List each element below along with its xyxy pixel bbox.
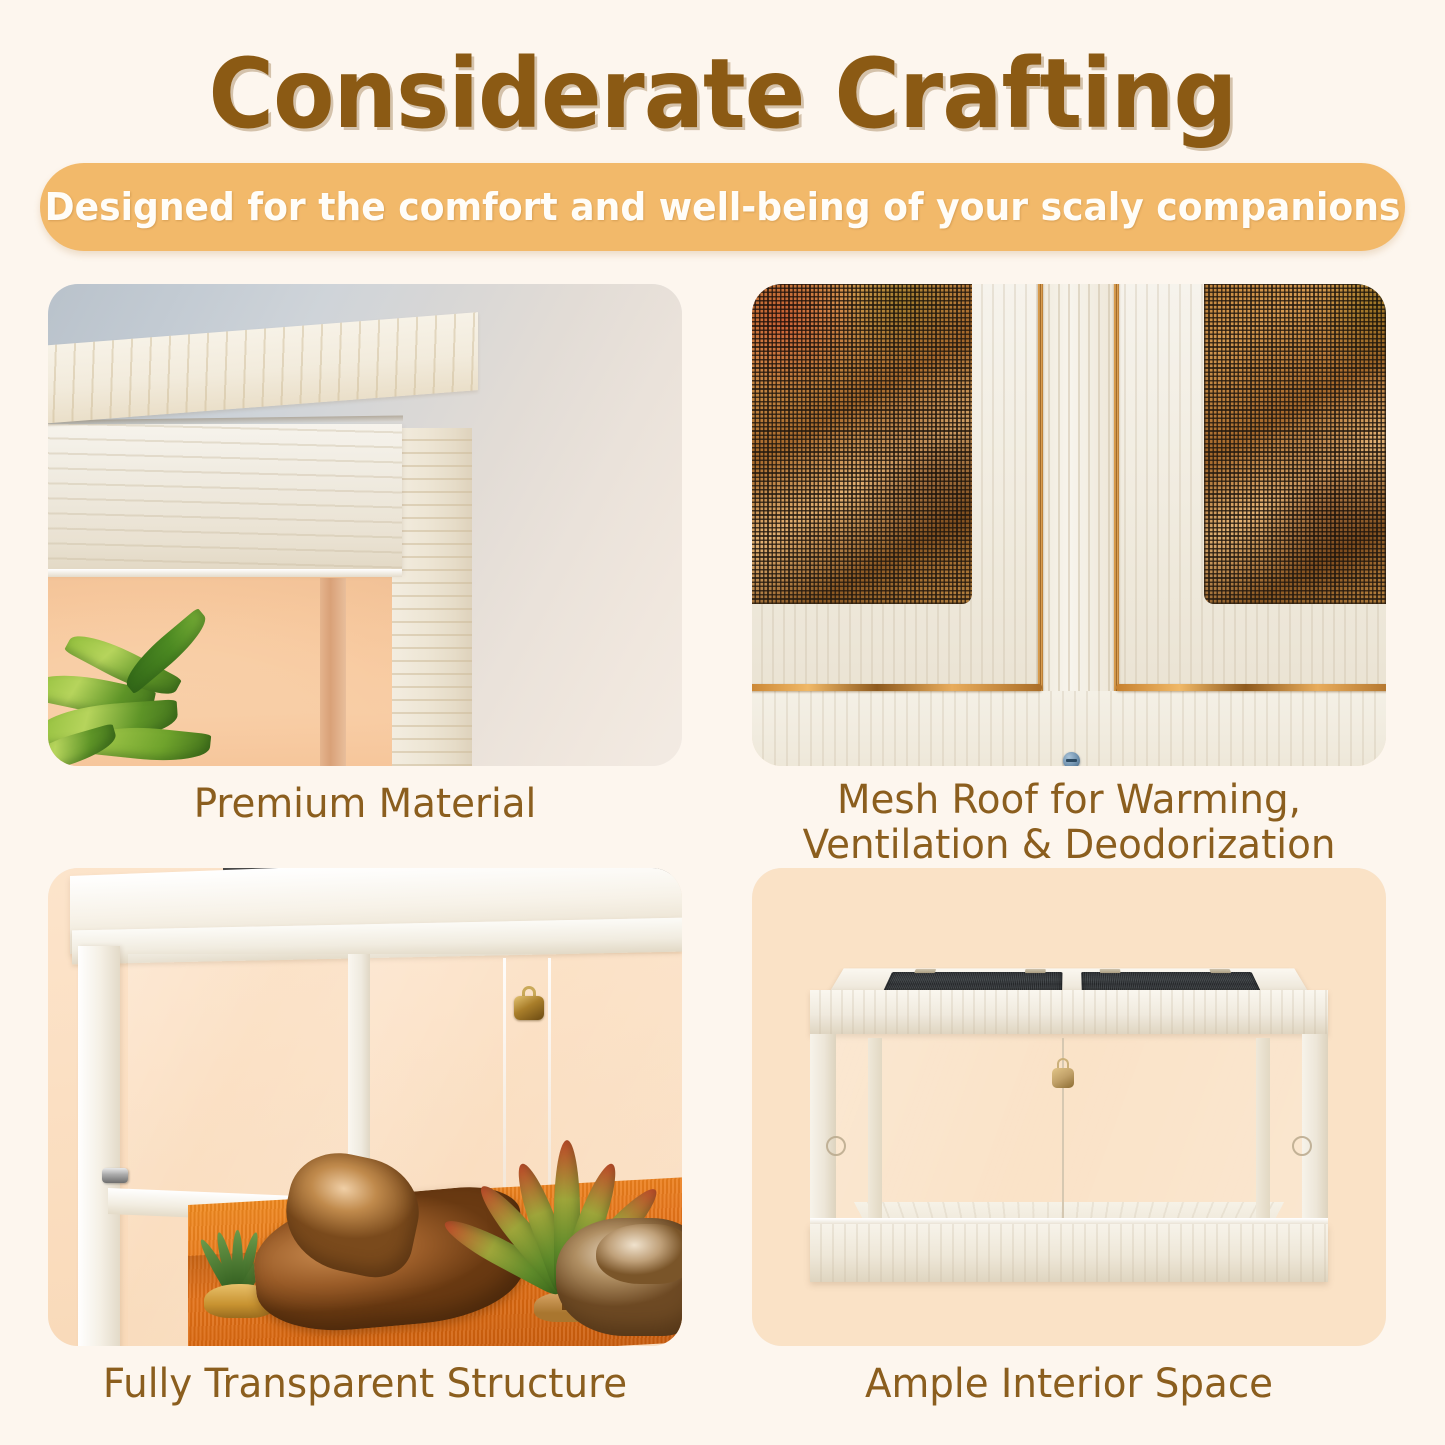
inner-post-right [1256, 1038, 1270, 1220]
caption-line: Mesh Roof for Warming, [752, 778, 1386, 823]
roof-hinge [1025, 969, 1046, 973]
lock-icon [514, 986, 544, 1020]
page-title: Considerate Crafting [51, 38, 1395, 150]
plant-leaves [48, 632, 258, 766]
base-panel [810, 1224, 1328, 1282]
caption-premium-material: Premium Material [58, 782, 673, 827]
decorative-rock-small [596, 1224, 682, 1284]
mesh-screen-right [1204, 284, 1386, 604]
front-wood-board [48, 424, 402, 572]
caption-interior-space: Ample Interior Space [762, 1362, 1377, 1407]
caption-mesh-roof: Mesh Roof for Warming, Ventilation & Deo… [752, 778, 1386, 868]
caption-transparent-structure: Fully Transparent Structure [58, 1362, 673, 1407]
vertical-frame-rail [392, 428, 472, 766]
feature-image-transparent-structure [48, 868, 682, 1346]
inner-wood-post [320, 578, 346, 766]
board-bottom-edge [48, 569, 402, 577]
screw-icon [1063, 752, 1080, 766]
left-frame-post [78, 946, 120, 1346]
left-corner-post [810, 1034, 836, 1222]
feature-image-mesh-roof [752, 284, 1386, 766]
amber-trim-vertical-left [1038, 284, 1043, 692]
caption-line: Fully Transparent Structure [58, 1362, 673, 1407]
subtitle-text: Designed for the comfort and well-being … [45, 185, 1401, 229]
caption-line: Ample Interior Space [762, 1362, 1377, 1407]
inner-post-left [868, 1038, 882, 1220]
lock-icon [1050, 1058, 1076, 1088]
center-wood-divider [1040, 284, 1116, 704]
subtitle-banner: Designed for the comfort and well-being … [40, 163, 1405, 251]
top-frame-band [810, 990, 1328, 1034]
caption-line: Premium Material [58, 782, 673, 827]
terrarium-product [810, 946, 1328, 1286]
infographic-page: Considerate Crafting Designed for the co… [0, 0, 1445, 1445]
lock-body [1052, 1068, 1074, 1088]
mesh-screen-left [752, 284, 972, 604]
lock-body [514, 996, 544, 1020]
right-corner-post [1302, 1034, 1328, 1222]
roof-hinge [1100, 969, 1121, 973]
amber-trim-horizontal-right [1116, 684, 1386, 691]
vent-hole-right [1292, 1136, 1312, 1156]
amber-trim-horizontal-left [752, 684, 1042, 691]
feature-image-premium-material [48, 284, 682, 766]
caption-line: Ventilation & Deodorization [752, 823, 1386, 868]
amber-trim-vertical-right [1114, 284, 1119, 692]
roof-hinge [914, 969, 936, 973]
door-knob [102, 1168, 128, 1183]
vent-hole-left [826, 1136, 846, 1156]
roof-hinge [1209, 969, 1231, 973]
feature-image-interior-space [752, 868, 1386, 1346]
